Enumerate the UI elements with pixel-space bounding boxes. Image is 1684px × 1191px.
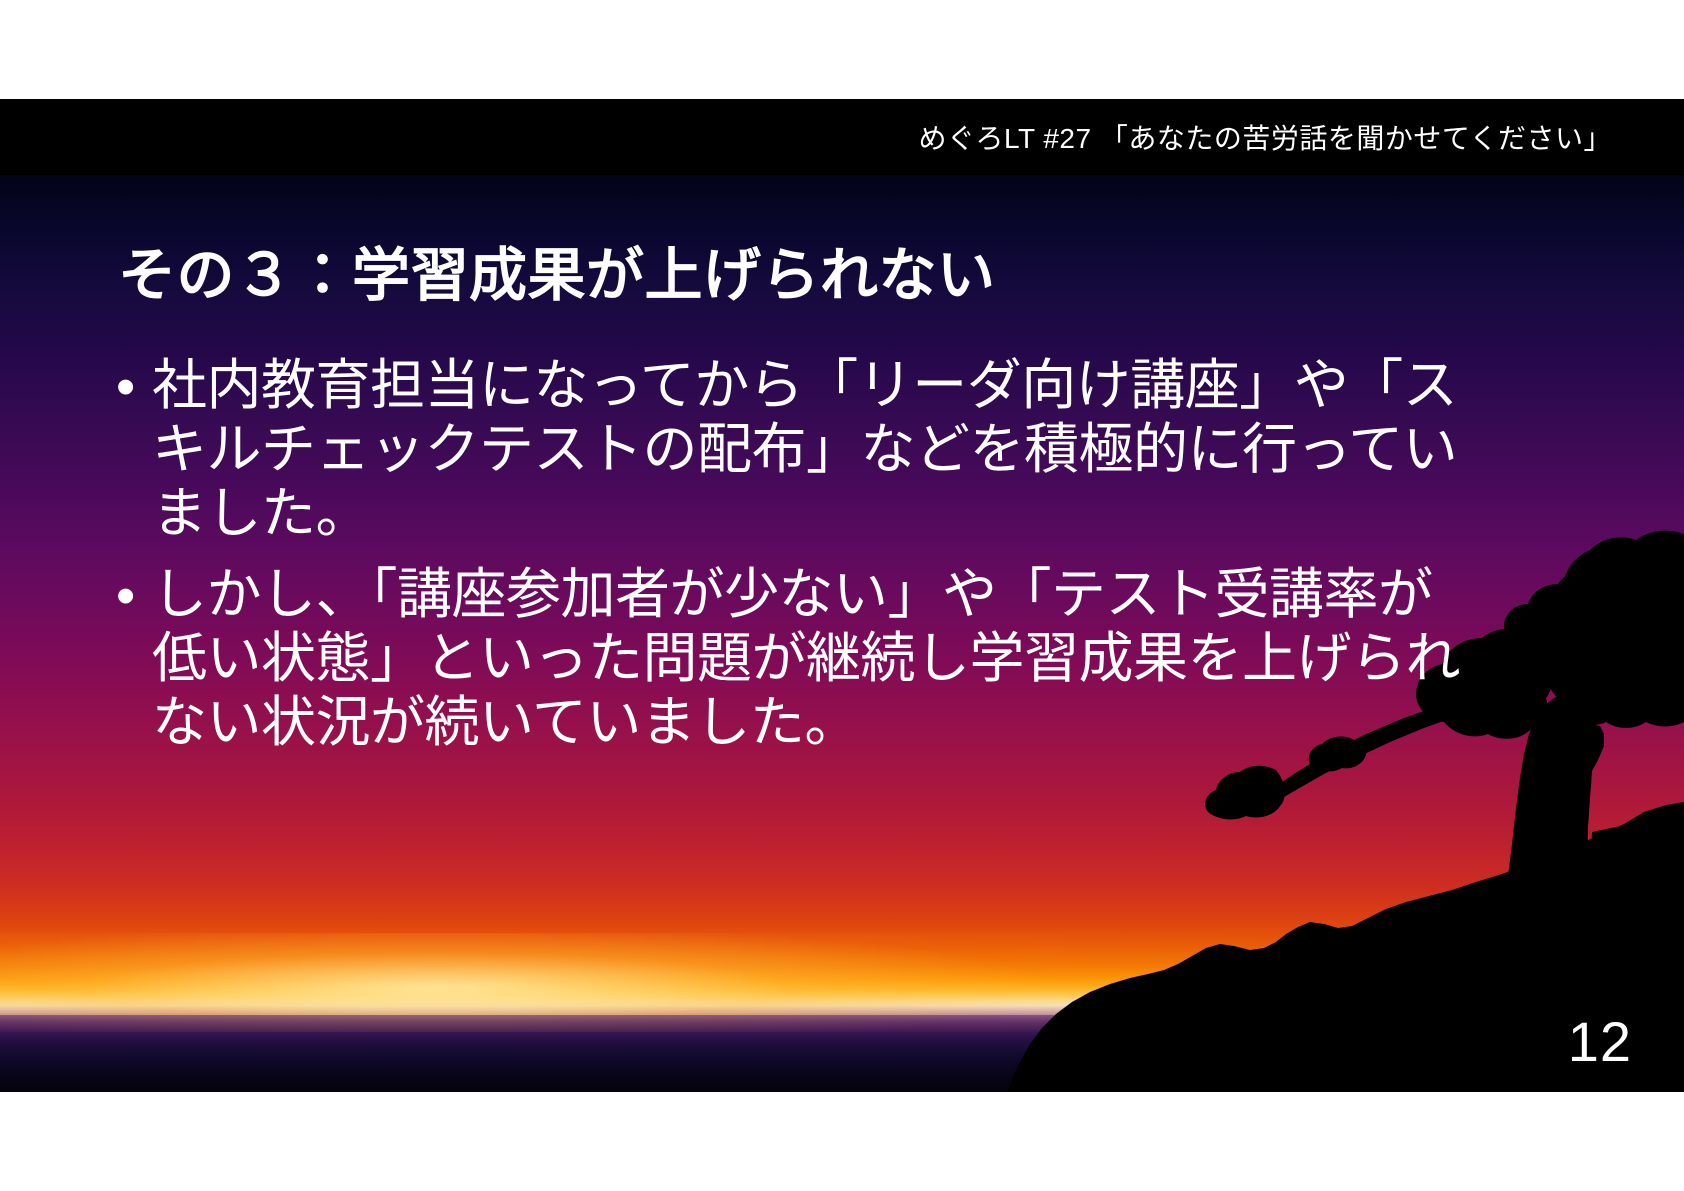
list-item: • しかし、「講座参加者が少ない」や「テスト受講率が低い状態」といった問題が継続… xyxy=(110,563,1480,754)
bullet-marker-icon: • xyxy=(116,355,135,419)
list-item: • 社内教育担当になってから「リーダ向け講座」や「スキルチェックテストの配布」な… xyxy=(110,354,1480,545)
list-item-text: しかし、「講座参加者が少ない」や「テスト受講率が低い状態」といった問題が継続し学… xyxy=(152,563,1480,754)
bullet-marker-icon: • xyxy=(116,564,135,628)
event-title-note: めぐろLT #27 「あなたの苦労話を聞かせてください」 xyxy=(918,117,1612,157)
page-number: 12 xyxy=(1568,1014,1632,1070)
slide: めぐろLT #27 「あなたの苦労話を聞かせてください」 その３：学習成果が上げ… xyxy=(0,0,1684,1191)
slide-canvas: めぐろLT #27 「あなたの苦労話を聞かせてください」 その３：学習成果が上げ… xyxy=(0,99,1684,1092)
page-title: その３：学習成果が上げられない xyxy=(118,244,1538,309)
bullet-list: • 社内教育担当になってから「リーダ向け講座」や「スキルチェックテストの配布」な… xyxy=(110,354,1480,755)
list-item-text: 社内教育担当になってから「リーダ向け講座」や「スキルチェックテストの配布」などを… xyxy=(152,354,1480,545)
